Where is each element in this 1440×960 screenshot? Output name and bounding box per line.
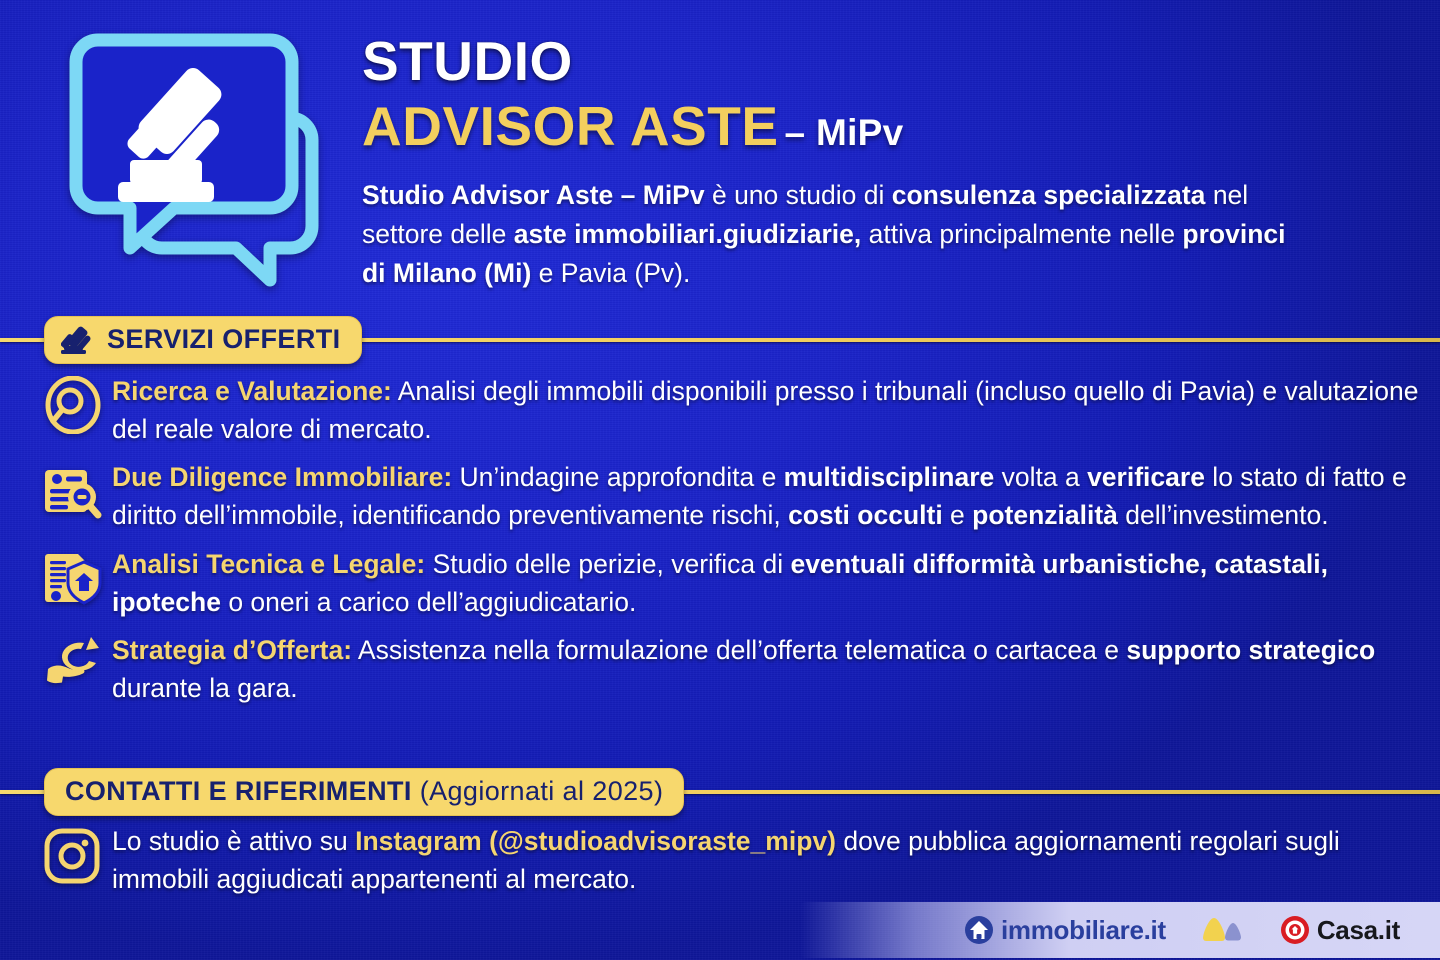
gavel-icon xyxy=(61,326,95,354)
document-magnifier-icon xyxy=(44,462,102,520)
footer-brand-bar: immobiliare.it Casa.it xyxy=(800,902,1440,958)
service-body-p1: Assistenza nella formulazione dell’offer… xyxy=(352,635,1126,665)
intro-line2-c: attiva principalmente xyxy=(861,219,1111,249)
contacts-banner-label-light: (Aggiornati al 2025) xyxy=(420,776,664,806)
idealista-pin-icon[interactable] xyxy=(1200,915,1246,945)
brand-casa[interactable]: Casa.it xyxy=(1280,915,1400,946)
hand-arrow-icon xyxy=(44,635,102,693)
contacts-banner-pill: CONTATTI E RIFERIMENTI (Aggiornati al 20… xyxy=(44,768,684,816)
list-item: Due Diligence Immobiliare: Un’indagine a… xyxy=(0,458,1440,534)
service-body-p5: dell’investimento. xyxy=(1118,500,1329,530)
service-body-p1: Un’indagine approfondita e xyxy=(452,462,784,492)
services-list: Ricerca e Valutazione: Analisi degli imm… xyxy=(0,372,1440,717)
casa-target-icon xyxy=(1280,915,1310,945)
service-body-p2: durante la gara. xyxy=(112,673,298,703)
contact-p1: Lo studio è attivo su xyxy=(112,826,355,856)
service-lead: Ricerca e Valutazione: xyxy=(112,376,392,406)
services-banner-label: SERVIZI OFFERTI xyxy=(107,324,341,355)
contacts-banner-label: CONTATTI E RIFERIMENTI (Aggiornati al 20… xyxy=(65,776,663,807)
list-item: Strategia d’Offerta: Assistenza nella fo… xyxy=(0,631,1440,707)
header-text: STUDIO ADVISOR ASTE– MiPv Studio Advisor… xyxy=(362,34,1400,293)
infographic-poster: STUDIO ADVISOR ASTE– MiPv Studio Advisor… xyxy=(0,0,1440,960)
intro-line1-a: Studio Advisor Aste – MiPv xyxy=(362,180,705,210)
intro-line3-a: nelle xyxy=(1119,219,1182,249)
title-suffix: – MiPv xyxy=(785,112,904,153)
service-body-p1: Studio delle perizie, verifica di xyxy=(425,549,790,579)
list-item-text: Ricerca e Valutazione: Analisi degli imm… xyxy=(112,372,1422,448)
contacts-banner-label-bold: CONTATTI E RIFERIMENTI xyxy=(65,776,412,806)
magnifier-circle-icon xyxy=(44,376,102,434)
list-item-text: Strategia d’Offerta: Assistenza nella fo… xyxy=(112,631,1422,707)
services-banner-pill: SERVIZI OFFERTI xyxy=(44,316,362,364)
services-section-banner: SERVIZI OFFERTI xyxy=(0,316,1440,364)
list-item-text: Due Diligence Immobiliare: Un’indagine a… xyxy=(112,458,1422,534)
instagram-icon[interactable] xyxy=(44,828,100,884)
intro-line2-b: aste immobiliari.giudiziarie, xyxy=(514,219,862,249)
service-body-b2: verificare xyxy=(1087,462,1205,492)
service-body-p2: volta a xyxy=(994,462,1087,492)
intro-line1-b: è uno studio di xyxy=(705,180,892,210)
contact-handle[interactable]: Instagram (@studioadvisoraste_mipv) xyxy=(355,826,836,856)
service-lead: Analisi Tecnica e Legale: xyxy=(112,549,425,579)
intro-line1-c: consulenza specializzata xyxy=(892,180,1206,210)
intro-paragraph: Studio Advisor Aste – MiPv è uno studio … xyxy=(362,176,1307,293)
gavel-speech-bubble-icon xyxy=(66,26,334,296)
brand-casa-label: Casa.it xyxy=(1317,915,1400,946)
immobiliare-house-icon xyxy=(964,915,994,945)
document-shield-house-icon xyxy=(44,549,102,607)
contact-block: Lo studio è attivo su Instagram (@studio… xyxy=(0,822,1440,898)
contact-text: Lo studio è attivo su Instagram (@studio… xyxy=(112,822,1422,898)
intro-line3-c: e Pavia (Pv). xyxy=(531,258,690,288)
service-body-p2: o oneri a carico dell’aggiudicatario. xyxy=(221,587,636,617)
title-main: ADVISOR ASTE xyxy=(362,95,779,157)
brand-immobiliare[interactable]: immobiliare.it xyxy=(964,915,1166,946)
list-item-text: Analisi Tecnica e Legale: Studio delle p… xyxy=(112,545,1422,621)
service-body-b1: multidisciplinare xyxy=(784,462,995,492)
service-lead: Due Diligence Immobiliare: xyxy=(112,462,452,492)
list-item: Analisi Tecnica e Legale: Studio delle p… xyxy=(0,545,1440,621)
footer: immobiliare.it Casa.it xyxy=(0,898,1440,960)
service-body-b3: costi occulti xyxy=(788,500,943,530)
header: STUDIO ADVISOR ASTE– MiPv Studio Advisor… xyxy=(0,0,1440,312)
page-title: STUDIO xyxy=(362,34,1400,89)
contacts-section-banner: CONTATTI E RIFERIMENTI (Aggiornati al 20… xyxy=(0,768,1440,816)
service-body-b4: potenzialità xyxy=(972,500,1118,530)
page-subtitle: ADVISOR ASTE– MiPv xyxy=(362,99,1400,154)
service-body-b1: supporto strategico xyxy=(1126,635,1375,665)
list-item: Ricerca e Valutazione: Analisi degli imm… xyxy=(0,372,1440,448)
brand-immobiliare-label: immobiliare.it xyxy=(1001,915,1166,946)
service-body-p4: e xyxy=(943,500,972,530)
service-lead: Strategia d’Offerta: xyxy=(112,635,352,665)
